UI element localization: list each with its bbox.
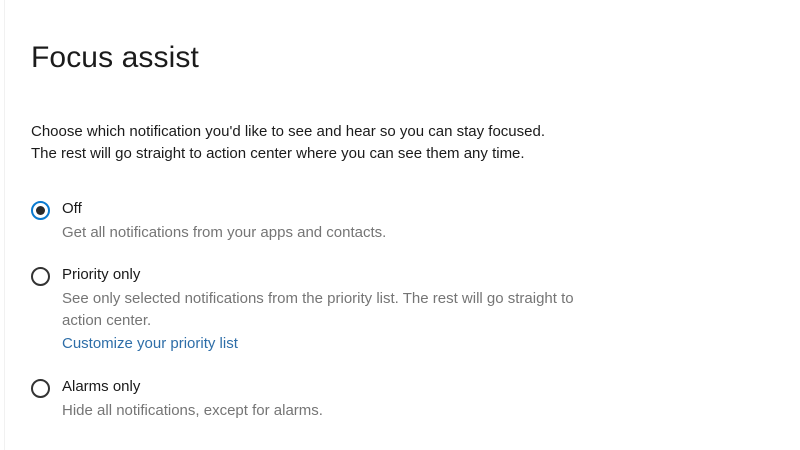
radio-option-priority-only-label: Priority only: [62, 265, 591, 285]
radio-button-priority-only-icon[interactable]: [31, 267, 50, 286]
focus-assist-settings-page: Focus assist Choose which notification y…: [0, 0, 800, 450]
radio-option-off[interactable]: Off Get all notifications from your apps…: [31, 199, 591, 244]
page-description: Choose which notification you'd like to …: [31, 121, 547, 165]
radio-option-alarms-only-label: Alarms only: [62, 377, 591, 397]
radio-option-alarms-only[interactable]: Alarms only Hide all notifications, exce…: [31, 377, 591, 422]
radio-option-priority-only-description: See only selected notifications from the…: [62, 288, 582, 332]
customize-priority-list-link[interactable]: Customize your priority list: [62, 333, 238, 355]
radio-option-off-label: Off: [62, 199, 591, 219]
page-title: Focus assist: [31, 40, 199, 76]
radio-option-priority-only[interactable]: Priority only See only selected notifica…: [31, 265, 591, 355]
radio-button-alarms-only-icon[interactable]: [31, 379, 50, 398]
radio-option-alarms-only-description: Hide all notifications, except for alarm…: [62, 400, 582, 422]
radio-button-off-icon[interactable]: [31, 201, 50, 220]
radio-option-off-description: Get all notifications from your apps and…: [62, 222, 582, 244]
focus-assist-radio-group: Off Get all notifications from your apps…: [31, 199, 591, 422]
